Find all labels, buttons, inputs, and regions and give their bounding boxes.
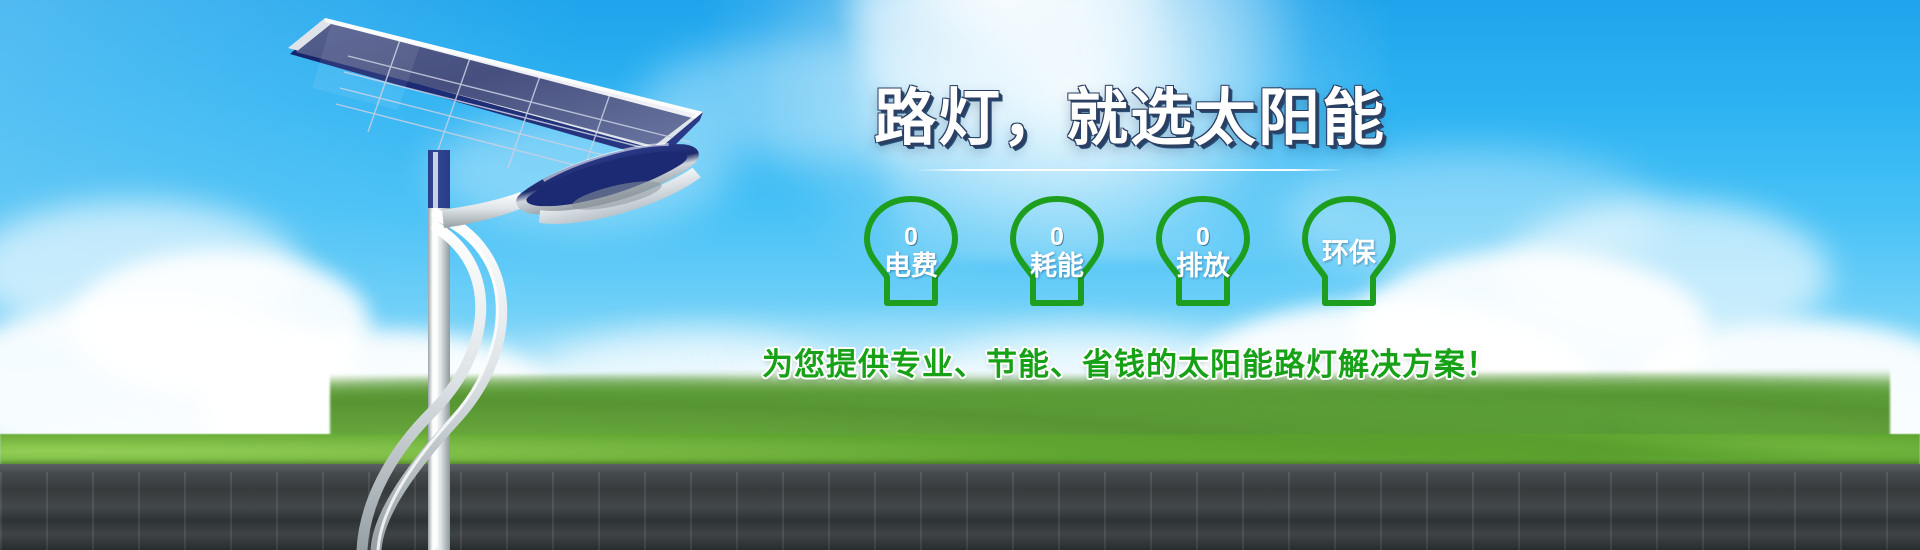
page-title: 路灯，就选太阳能 [760, 86, 1500, 153]
tiled-wall-icon [0, 472, 1920, 550]
badge-label: 耗能 [1030, 253, 1084, 281]
banner-copy: 路灯，就选太阳能 0 电费 0 耗能 [760, 86, 1500, 384]
title-divider [915, 169, 1345, 171]
badge-zero-value: 0 [904, 225, 918, 251]
badge-zero-value: 0 [1050, 225, 1064, 251]
feature-badge-zero-energy-consumption[interactable]: 0 耗能 [1001, 193, 1113, 313]
badge-text: 0 电费 [884, 225, 938, 280]
badge-text: 0 排放 [1176, 225, 1230, 280]
banner-tagline: 为您提供专业、节能、省钱的太阳能路灯解决方案！ [760, 339, 1500, 384]
badge-label: 电费 [884, 253, 938, 281]
feature-badge-zero-electricity-cost[interactable]: 0 电费 [855, 193, 967, 313]
badge-text: 0 耗能 [1030, 225, 1084, 280]
ground-scene [0, 400, 1920, 550]
solar-street-light-banner: 路灯，就选太阳能 0 电费 0 耗能 [0, 0, 1920, 550]
feature-badge-list: 0 电费 0 耗能 0 排放 [760, 193, 1500, 313]
badge-label: 排放 [1176, 253, 1230, 281]
feature-badge-zero-emission[interactable]: 0 排放 [1147, 193, 1259, 313]
badge-label: 环保 [1322, 240, 1376, 268]
feature-badge-environmental-protection[interactable]: 环保 [1293, 193, 1405, 313]
badge-text: 环保 [1322, 238, 1376, 268]
badge-zero-value: 0 [1196, 225, 1210, 251]
